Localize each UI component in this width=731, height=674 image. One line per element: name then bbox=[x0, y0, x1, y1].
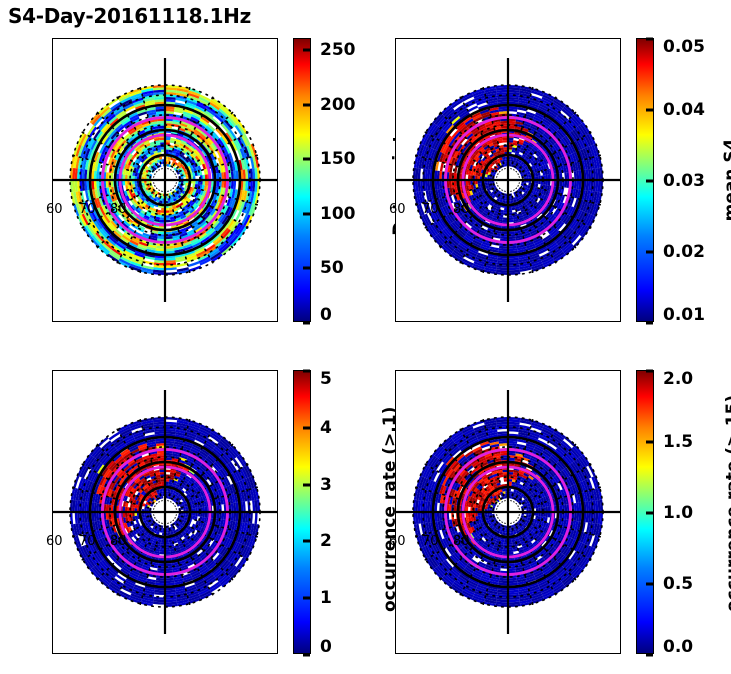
colorbar-tick bbox=[646, 322, 653, 325]
colorbar-tick-label: 200 bbox=[320, 95, 356, 115]
colorbar-label-occurrence-015: occurrence rate (>.15) bbox=[723, 412, 731, 612]
figure-title: S4-Day-20161118.1Hz bbox=[8, 4, 251, 28]
radial-tick-label-70: 70 bbox=[79, 202, 96, 217]
colorbar-mean-s4: 0.010.020.030.040.05 bbox=[636, 38, 654, 322]
colorbar-tick bbox=[303, 597, 310, 600]
polar-plot-area bbox=[52, 370, 278, 654]
colorbar-occurrence-rate-gt-015: 0.00.51.01.52.0 bbox=[636, 370, 654, 654]
colorbar-tick-label: 0.0 bbox=[663, 637, 693, 657]
colorbar-tick bbox=[646, 441, 653, 444]
polar-map-occurrence-01 bbox=[52, 370, 278, 654]
colorbar-data-points: 050100150200250 bbox=[293, 38, 311, 322]
figure-canvas: S4-Day-20161118.1Hz 60 70 80 05010015020… bbox=[0, 0, 731, 674]
colorbar-tick-label: 3 bbox=[320, 475, 332, 495]
crosshair-axes bbox=[52, 390, 278, 634]
colorbar-tick-label: 0.01 bbox=[663, 305, 705, 325]
colorbar-tick bbox=[303, 212, 310, 215]
colorbar-tick-label: 0 bbox=[320, 637, 332, 657]
colorbar-tick bbox=[303, 322, 310, 325]
colorbar-tick bbox=[303, 158, 310, 161]
radial-tick-label-60: 60 bbox=[46, 534, 63, 549]
polar-plot-area bbox=[395, 370, 621, 654]
colorbar-tick-label: 0.04 bbox=[663, 100, 705, 120]
panel-mean-s4: 60 70 80 bbox=[395, 38, 621, 322]
polar-map-mean-s4 bbox=[395, 38, 621, 322]
panel-occurrence-rate-gt-015: 60 70 80 bbox=[395, 370, 621, 654]
colorbar-tick-label: 0.02 bbox=[663, 242, 705, 262]
crosshair-axes bbox=[395, 58, 621, 302]
colorbar-tick-label: 5 bbox=[320, 369, 332, 389]
colorbar-tick-label: 50 bbox=[320, 258, 344, 278]
colorbar-tick bbox=[303, 483, 310, 486]
polar-plot-area bbox=[395, 38, 621, 322]
colorbar-tick-label: 1.5 bbox=[663, 432, 693, 452]
polar-map-occurrence-015 bbox=[395, 370, 621, 654]
colorbar-tick bbox=[646, 38, 653, 41]
radial-tick-label-60: 60 bbox=[389, 202, 406, 217]
colorbar-tick-label: 1 bbox=[320, 588, 332, 608]
radial-tick-label-80: 80 bbox=[453, 202, 470, 217]
polar-map-data-points bbox=[52, 38, 278, 322]
radial-tick-label-60: 60 bbox=[389, 534, 406, 549]
colorbar-tick-label: 0 bbox=[320, 305, 332, 325]
colorbar-tick bbox=[303, 654, 310, 657]
radial-tick-label-60: 60 bbox=[46, 202, 63, 217]
colorbar-tick-label: 100 bbox=[320, 204, 356, 224]
radial-tick-label-70: 70 bbox=[79, 534, 96, 549]
colorbar-tick bbox=[303, 426, 310, 429]
colorbar-tick bbox=[303, 540, 310, 543]
colorbar-tick bbox=[646, 370, 653, 373]
colorbar-tick bbox=[646, 109, 653, 112]
colorbar-label-mean-s4: mean S4 bbox=[721, 120, 731, 240]
colorbar-tick-label: 2 bbox=[320, 531, 332, 551]
colorbar-tick-label: 4 bbox=[320, 418, 332, 438]
colorbar-tick bbox=[303, 103, 310, 106]
panel-occurrence-rate-gt-01: 60 70 80 bbox=[52, 370, 278, 654]
colorbar-gradient bbox=[294, 39, 310, 321]
colorbar-tick bbox=[646, 654, 653, 657]
colorbar-tick-label: 250 bbox=[320, 40, 356, 60]
radial-tick-label-70: 70 bbox=[422, 202, 439, 217]
colorbar-tick-label: 0.05 bbox=[663, 37, 705, 57]
radial-tick-label-70: 70 bbox=[422, 534, 439, 549]
colorbar-tick-label: 2.0 bbox=[663, 369, 693, 389]
polar-plot-area bbox=[52, 38, 278, 322]
crosshair-axes bbox=[52, 58, 278, 302]
colorbar-tick bbox=[646, 180, 653, 183]
colorbar-gradient bbox=[294, 371, 310, 653]
colorbar-tick bbox=[303, 48, 310, 51]
colorbar-tick bbox=[303, 370, 310, 373]
colorbar-tick bbox=[303, 267, 310, 270]
colorbar-tick-label: 150 bbox=[320, 149, 356, 169]
colorbar-tick bbox=[646, 512, 653, 515]
radial-tick-label-80: 80 bbox=[110, 202, 127, 217]
colorbar-tick bbox=[646, 251, 653, 254]
colorbar-tick-label: 0.03 bbox=[663, 171, 705, 191]
panel-data-points: 60 70 80 bbox=[52, 38, 278, 322]
colorbar-occurrence-rate-gt-01: 012345 bbox=[293, 370, 311, 654]
colorbar-tick-label: 0.5 bbox=[663, 574, 693, 594]
radial-tick-label-80: 80 bbox=[110, 534, 127, 549]
colorbar-tick-label: 1.0 bbox=[663, 503, 693, 523]
colorbar-tick bbox=[646, 583, 653, 586]
radial-tick-label-80: 80 bbox=[453, 534, 470, 549]
crosshair-axes bbox=[395, 390, 621, 634]
